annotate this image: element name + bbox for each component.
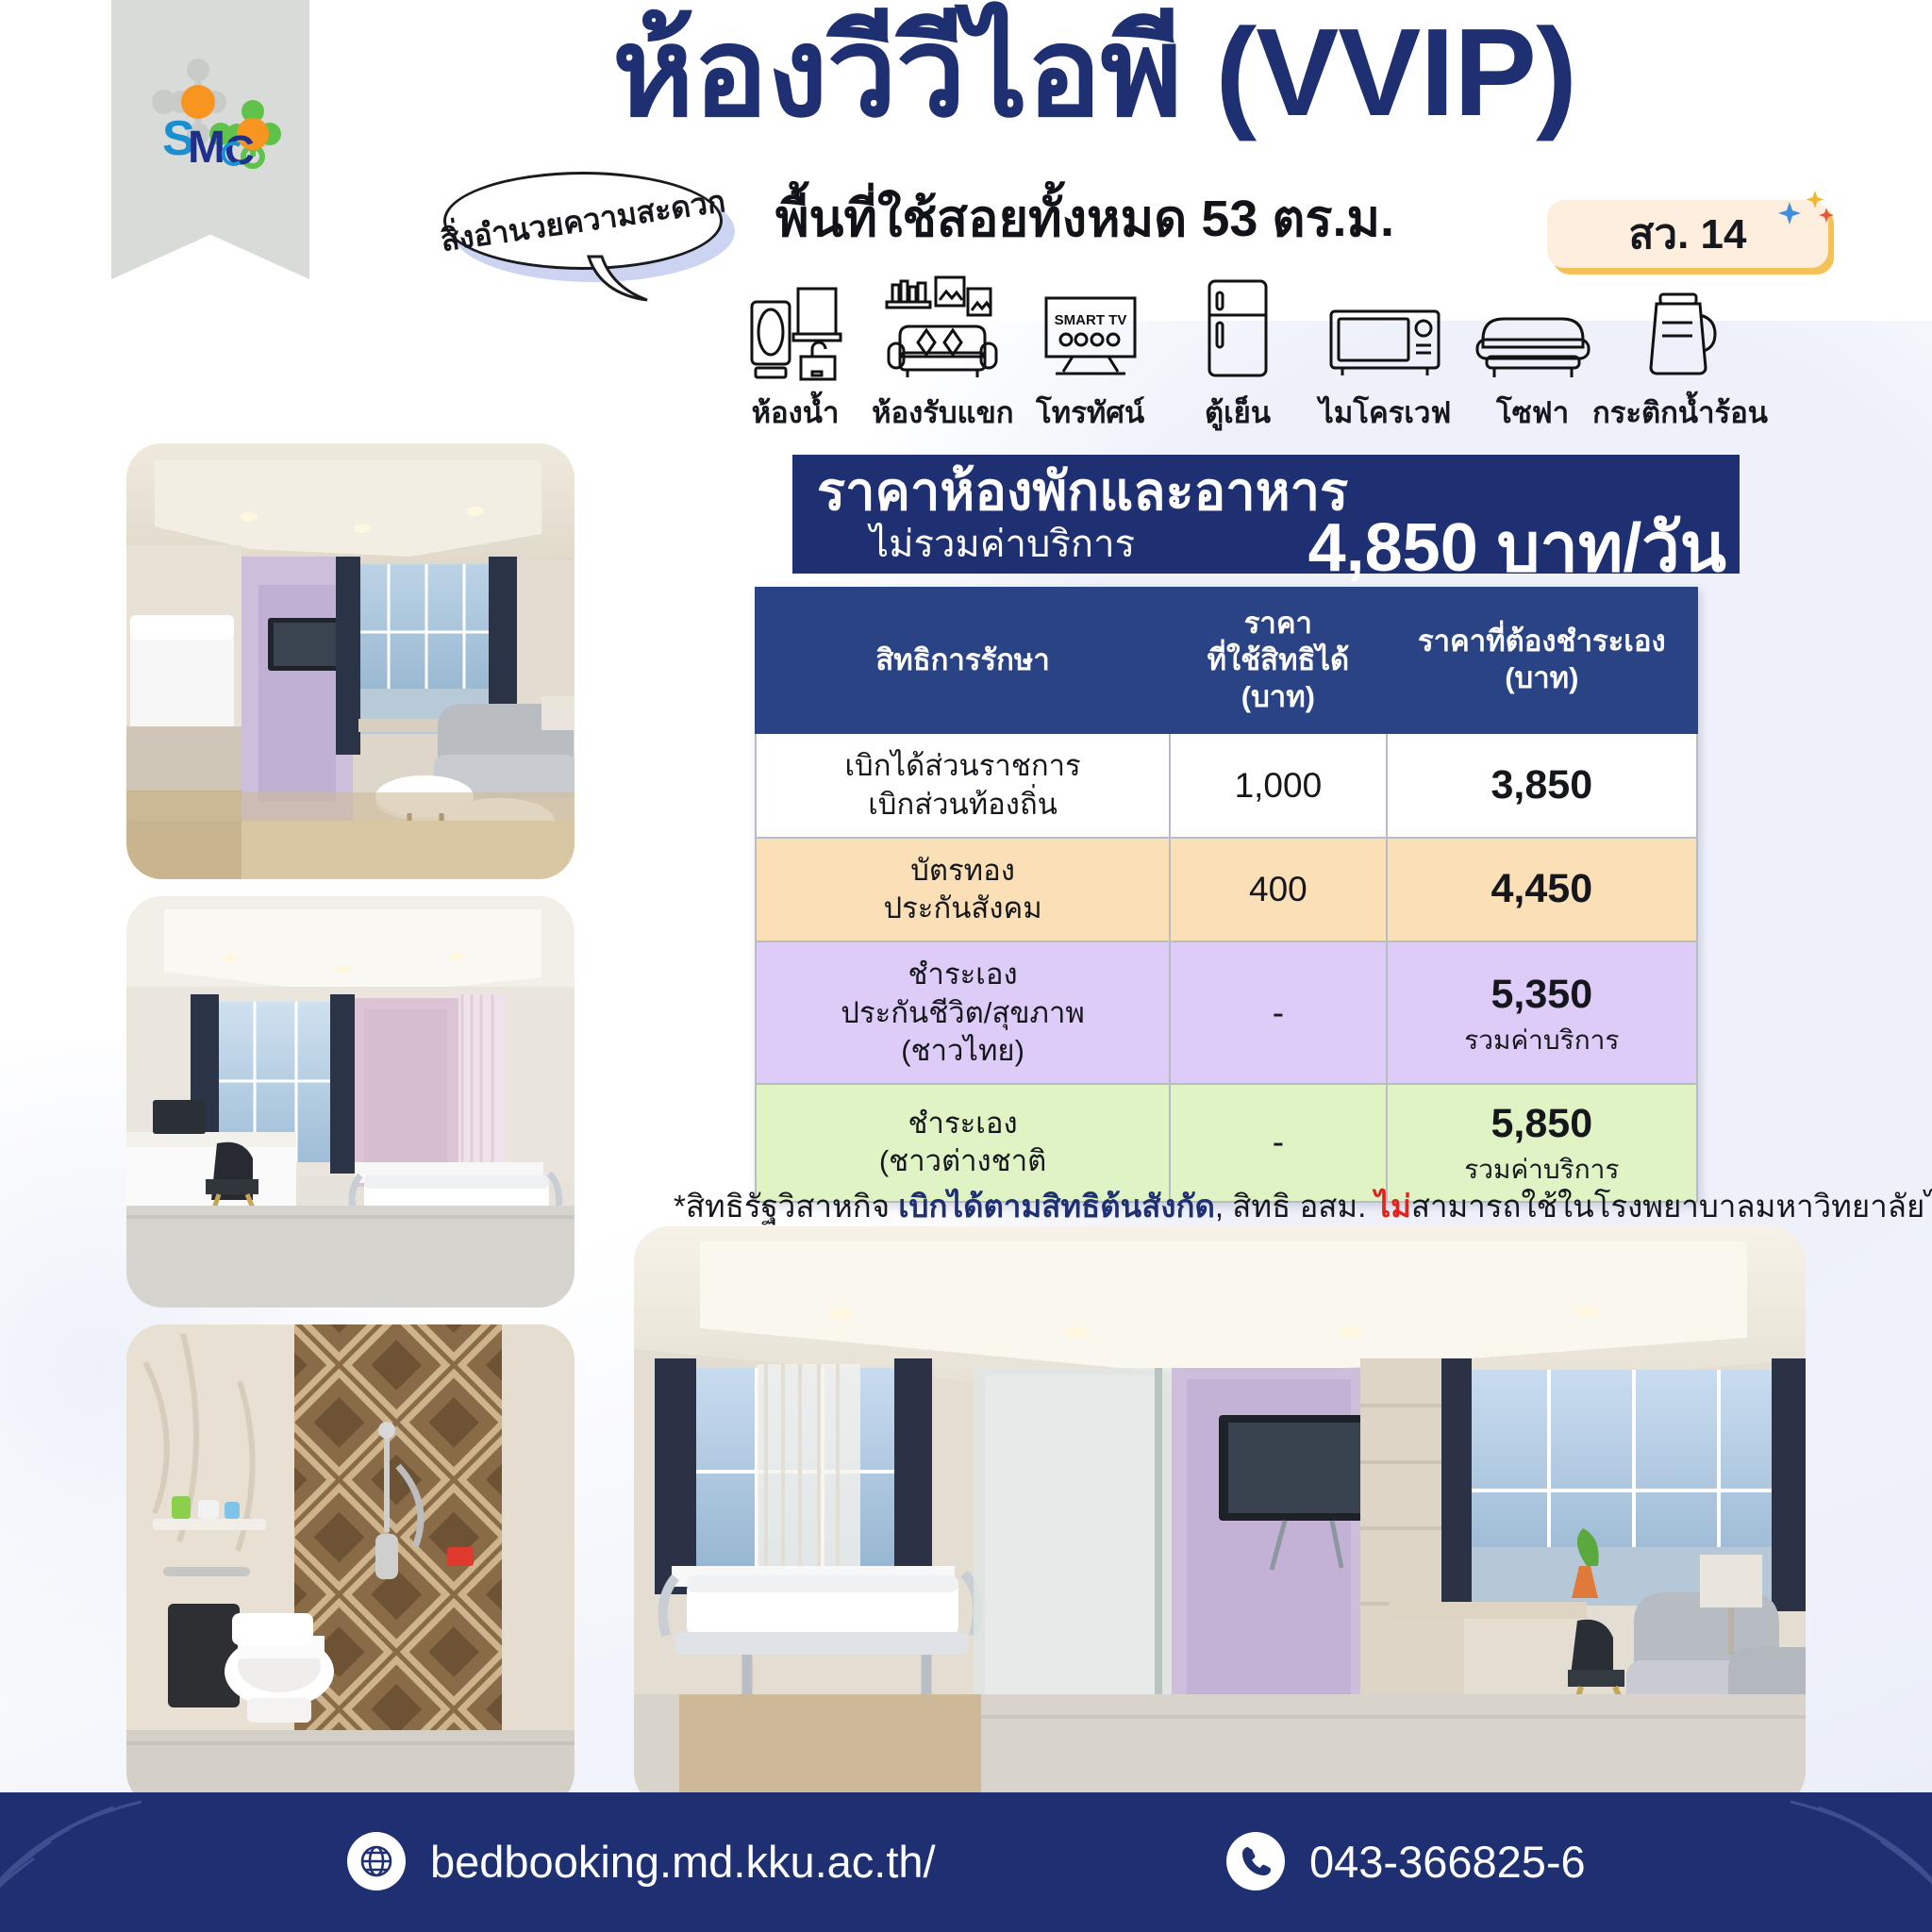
cell-claimable: 400 [1170, 838, 1387, 942]
cell-benefit: บัตรทอง ประกันสังคม [756, 838, 1170, 942]
amenity-tv: SMART TV โทรทัศน์ [1024, 270, 1158, 436]
th-selfpay: ราคาที่ต้องชำระเอง (บาท) [1387, 588, 1697, 733]
amenity-label: ห้องรับแขก [872, 389, 1013, 436]
footer-website[interactable]: bedbooking.md.kku.ac.th/ [347, 1832, 936, 1890]
phone-icon [1226, 1832, 1285, 1890]
footer-arc-decoration-left [0, 1792, 321, 1932]
room-wide-photo [634, 1226, 1806, 1807]
amenity-label: โซฟา [1496, 389, 1569, 436]
page-subtitle: พื้นที่ใช้สอยทั้งหมด 53 ตร.ม. [660, 177, 1509, 258]
poster-root: S M C ห้องวีวีไอพี (VVIP) พื้นที่ใช้สอยท… [0, 0, 1932, 1932]
th-claimable: ราคา ที่ใช้สิทธิได้ (บาท) [1170, 588, 1387, 733]
amenity-living-room: ห้องรับแขก [875, 270, 1009, 436]
cell-selfpay: 5,350 รวมค่าบริการ [1387, 941, 1697, 1084]
amenity-sofa: โซฟา [1466, 270, 1600, 436]
smart-tv-icon: SMART TV [1035, 270, 1146, 381]
amenity-label: ตู้เย็น [1205, 389, 1271, 436]
svg-text:SMART TV: SMART TV [1054, 312, 1126, 328]
bathroom-icon [746, 270, 844, 381]
sparkle-icon [1774, 185, 1840, 238]
table-row: เบิกได้ส่วนราชการ เบิกส่วนท้องถิ่น 1,000… [756, 733, 1697, 838]
th-selfpay-l2: (บาท) [1505, 661, 1578, 694]
benefit-l1: ชำระเอง [908, 1107, 1018, 1140]
amenity-label: โทรทัศน์ [1036, 389, 1144, 436]
amenities-speech-bubble: สิ่งอำนวยความสะดวก [443, 172, 726, 274]
price-banner-amount: 4,850 บาท/วัน [1308, 492, 1726, 601]
refrigerator-icon [1200, 270, 1275, 381]
th-benefit: สิทธิการรักษา [756, 588, 1170, 733]
footer-phone-text: 043-366825-6 [1309, 1836, 1586, 1888]
amenity-label: กระติกน้ำร้อน [1592, 389, 1768, 436]
sofa-icon [1474, 270, 1592, 381]
th-selfpay-l1: ราคาที่ต้องชำระเอง [1418, 625, 1666, 658]
amenity-bathroom: ห้องน้ำ [728, 270, 862, 436]
price-table: สิทธิการรักษา ราคา ที่ใช้สิทธิได้ (บาท) … [755, 587, 1698, 1203]
footer-website-text: bedbooking.md.kku.ac.th/ [430, 1836, 936, 1888]
footnote-part2: , สิทธิ อสม. [1215, 1189, 1375, 1224]
footnote-part1: *สิทธิรัฐวิสาหกิจ [674, 1189, 898, 1224]
table-footnote: *สิทธิรัฐวิสาหกิจ เบิกได้ตามสิทธิต้นสังก… [674, 1181, 1919, 1231]
footer-bar: bedbooking.md.kku.ac.th/ 043-366825-6 [0, 1792, 1932, 1932]
bubble-tail [585, 255, 651, 304]
bathroom-photo [126, 1324, 575, 1807]
bubble-label: สิ่งอำนวยความสะดวก [438, 177, 728, 265]
cell-selfpay: 3,850 [1387, 733, 1697, 838]
benefit-l1: ชำระเอง [908, 958, 1018, 991]
amenity-kettle: กระติกน้ำร้อน [1613, 270, 1747, 436]
patient-bed-photo [126, 896, 575, 1307]
cell-claimable: 1,000 [1170, 733, 1387, 838]
price-banner: ราคาห้องพักและอาหาร ไม่รวมค่าบริการ 4,85… [792, 455, 1740, 574]
table-row: ชำระเอง ประกันชีวิต/สุขภาพ (ชาวไทย) - 5,… [756, 941, 1697, 1084]
amenity-microwave: ไมโครเวฟ [1318, 270, 1452, 436]
cell-claimable: - [1170, 941, 1387, 1084]
room-interior-photo [126, 443, 575, 879]
amenity-label: ห้องน้ำ [752, 389, 840, 436]
amenity-refrigerator: ตู้เย็น [1171, 270, 1305, 436]
benefit-l2: (ชาวต่างชาติ [879, 1144, 1046, 1177]
table-row: บัตรทอง ประกันสังคม 400 4,450 [756, 838, 1697, 942]
selfpay-amount: 3,850 [1491, 762, 1593, 808]
kettle-icon [1640, 270, 1721, 381]
benefit-l2: ประกันสังคม [883, 891, 1041, 924]
benefit-l1: เบิกได้ส่วนราชการ [844, 749, 1080, 782]
svg-text:C: C [225, 127, 255, 174]
microwave-icon [1327, 270, 1442, 381]
cell-selfpay: 4,450 [1387, 838, 1697, 942]
living-room-icon [883, 270, 1002, 381]
footnote-bold: เบิกได้ตามสิทธิต้นสังกัด [898, 1189, 1215, 1224]
selfpay-amount: 5,350 [1491, 972, 1593, 1017]
page-title: ห้องวีวีไอพี (VVIP) [443, 8, 1745, 139]
footer-arc-decoration-right [1611, 1792, 1932, 1932]
th-claimable-l1: ราคา [1244, 607, 1312, 640]
price-table-head: สิทธิการรักษา ราคา ที่ใช้สิทธิได้ (บาท) … [756, 588, 1697, 733]
amenity-label: ไมโครเวฟ [1319, 389, 1451, 436]
benefit-l1: บัตรทอง [910, 854, 1015, 887]
benefit-l3: (ชาวไทย) [901, 1034, 1024, 1067]
globe-icon [347, 1832, 406, 1890]
benefit-l2: ประกันชีวิต/สุขภาพ [841, 996, 1085, 1029]
cell-benefit: เบิกได้ส่วนราชการ เบิกส่วนท้องถิ่น [756, 733, 1170, 838]
footnote-red: ไม่ [1375, 1189, 1411, 1224]
benefit-l2: เบิกส่วนท้องถิ่น [868, 788, 1058, 821]
price-banner-note: ไม่รวมค่าบริการ [870, 513, 1135, 574]
footnote-part3: สามารถใช้ในโรงพยาบาลมหาวิทยาลัยได้ [1411, 1189, 1932, 1224]
bubble-body: สิ่งอำนวยความสะดวก [443, 172, 723, 270]
table-header-row: สิทธิการรักษา ราคา ที่ใช้สิทธิได้ (บาท) … [756, 588, 1697, 733]
svg-text:M: M [188, 123, 225, 173]
selfpay-amount: 5,850 [1491, 1101, 1593, 1146]
smc-logo: S M C [121, 40, 300, 200]
cell-benefit: ชำระเอง ประกันชีวิต/สุขภาพ (ชาวไทย) [756, 941, 1170, 1084]
selfpay-note: รวมค่าบริการ [1393, 1024, 1690, 1058]
footer-phone[interactable]: 043-366825-6 [1226, 1832, 1586, 1890]
selfpay-amount: 4,450 [1491, 866, 1593, 911]
th-claimable-l2: ที่ใช้สิทธิได้ (บาท) [1207, 643, 1350, 713]
amenities-row: ห้องน้ำ [728, 266, 1747, 436]
price-table-body: เบิกได้ส่วนราชการ เบิกส่วนท้องถิ่น 1,000… [756, 733, 1697, 1201]
